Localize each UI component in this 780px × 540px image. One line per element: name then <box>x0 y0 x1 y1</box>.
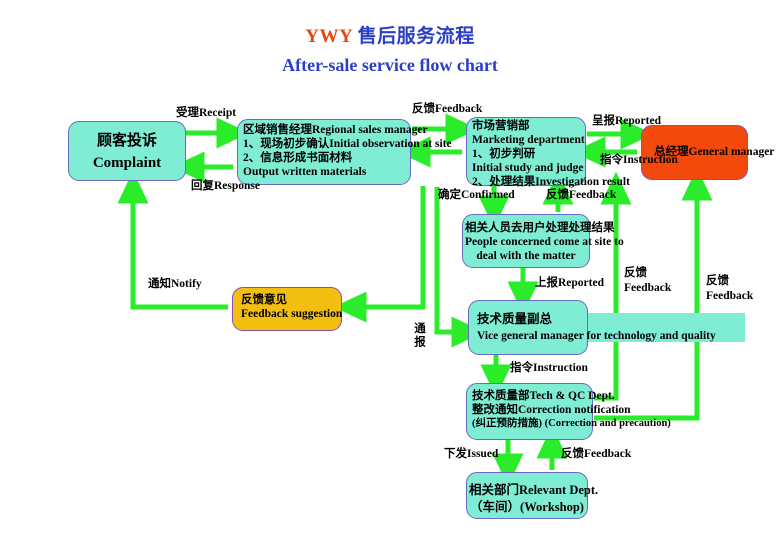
node-marketing-line4: Initial study and judge <box>472 161 585 175</box>
edge-label-feedback-mid: 反馈Feedback <box>546 188 616 202</box>
node-relevant-dept[interactable]: 相关部门Relevant Dept. （车间）(Workshop) <box>466 472 588 519</box>
node-feedback-line2: Feedback suggestion <box>241 307 341 321</box>
node-relevant-line1: 相关部门Relevant Dept. <box>469 482 585 499</box>
edge-label-instruction-vgm: 指令Instruction <box>510 361 588 375</box>
edge-label-reported-up: 上报Reported <box>535 276 604 290</box>
node-techqc-line3: (纠正预防措施) (Correction and precaution) <box>472 417 592 431</box>
node-rsm-line2: 1、现场初步确认Initial observation at site <box>243 137 410 151</box>
node-marketing-line1: 市场营销部 <box>472 119 585 133</box>
node-relevant-line2: （车间）(Workshop) <box>469 499 585 516</box>
node-marketing-line2: Marketing department <box>472 133 585 147</box>
node-complaint-line1: 顾客投诉 <box>73 130 181 152</box>
node-regional-sales-manager[interactable]: 区域销售经理Regional sales manager 1、现场初步确认Ini… <box>237 119 411 185</box>
edge-label-notify: 通知Notify <box>148 277 202 291</box>
edge-label-circulate: 通报 <box>411 322 426 349</box>
node-feedback-suggestion[interactable]: 反馈意见 Feedback suggestion <box>232 287 342 331</box>
node-marketing-department[interactable]: 市场营销部 Marketing department 1、初步判研 Initia… <box>466 117 586 186</box>
node-vice-general-manager[interactable]: 技术质量副总 Vice general manager for technolo… <box>468 300 588 355</box>
node-complaint[interactable]: 顾客投诉 Complaint <box>68 121 186 181</box>
edge-label-feedback-bottom: 反馈Feedback <box>561 447 631 461</box>
edge-label-confirmed: 确定Confirmed <box>438 188 515 202</box>
node-marketing-line3: 1、初步判研 <box>472 147 585 161</box>
edge-label-feedback-right-outer: 反馈 Feedback <box>706 274 753 304</box>
edge-label-circulate-line2: 报 <box>413 336 425 350</box>
edge-rsm-to-feedback <box>350 186 423 307</box>
node-people-line1: 相关人员去用户处理处理结果 <box>465 221 587 235</box>
edge-label-feedback-right-outer-l2: Feedback <box>706 289 753 304</box>
node-rsm-line4: Output written materials <box>243 165 410 179</box>
node-techqc-line1: 技术质量部Tech & QC Dept. <box>472 389 592 403</box>
edge-label-response: 回复Response <box>191 179 260 193</box>
node-marketing-line5: 2、处理结果Investigation result <box>472 175 585 189</box>
node-rsm-line3: 2、信息形成书面材料 <box>243 151 410 165</box>
edge-label-feedback-top: 反馈Feedback <box>412 102 482 116</box>
node-people-line3: deal with the matter <box>465 249 587 263</box>
flowchart-canvas: YWY 售后服务流程 After-sale service flow chart <box>0 0 780 540</box>
node-complaint-line2: Complaint <box>73 152 181 174</box>
edge-label-feedback-right-inner-l2: Feedback <box>624 281 671 296</box>
edge-label-feedback-right-inner-l1: 反馈 <box>624 266 671 281</box>
edge-label-feedback-right-outer-l1: 反馈 <box>706 274 753 289</box>
edge-label-instruction-gm: 指令Instruction <box>600 153 678 167</box>
node-vgm-line2: Vice general manager for technology and … <box>477 328 587 345</box>
node-feedback-line1: 反馈意见 <box>241 293 341 307</box>
node-techqc-line2: 整改通知Correction notification <box>472 403 592 417</box>
node-tech-qc-dept[interactable]: 技术质量部Tech & QC Dept. 整改通知Correction noti… <box>466 383 593 440</box>
edge-label-reported-top: 呈报Reported <box>592 114 661 128</box>
edge-label-issued: 下发Issued <box>444 447 498 461</box>
edge-label-circulate-line1: 通 <box>413 322 425 336</box>
edge-label-receipt: 受理Receipt <box>176 106 236 120</box>
node-vgm-line1: 技术质量副总 <box>477 310 587 328</box>
edge-label-feedback-right-inner: 反馈 Feedback <box>624 266 671 296</box>
node-people-concerned[interactable]: 相关人员去用户处理处理结果 People concerned come at s… <box>462 214 590 268</box>
node-rsm-line1: 区域销售经理Regional sales manager <box>243 123 410 137</box>
node-people-line2: People concerned come at site to <box>465 235 587 249</box>
edge-techqc-to-marketing-feedback <box>594 188 616 398</box>
